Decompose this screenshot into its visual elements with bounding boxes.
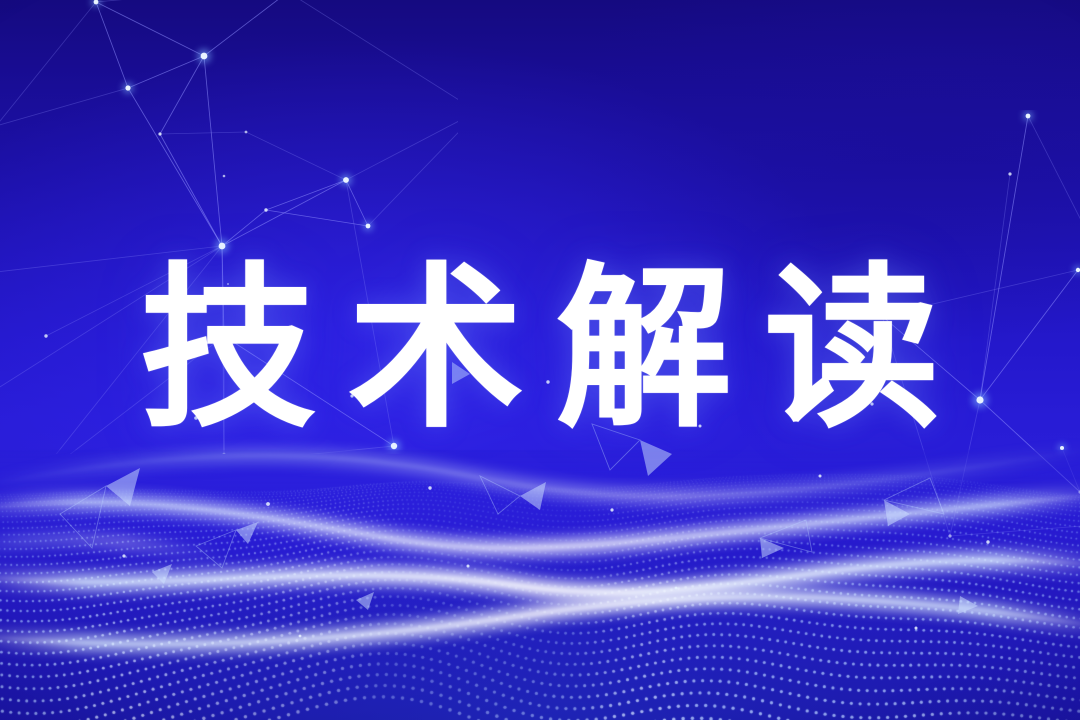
network-mesh-left-icon	[0, 0, 458, 454]
banner-title-container: 技术解读	[0, 250, 1080, 450]
banner-title: 技术解读	[108, 262, 972, 438]
wave-crest-ribbons	[0, 390, 1080, 720]
network-mesh-right-icon	[830, 110, 1080, 540]
vignette-overlay	[0, 0, 1080, 720]
floating-shards	[0, 300, 1080, 720]
tech-banner: 技术解读	[0, 0, 1080, 720]
background-glow-wash	[0, 0, 1080, 720]
particle-wave-field	[0, 390, 1080, 720]
